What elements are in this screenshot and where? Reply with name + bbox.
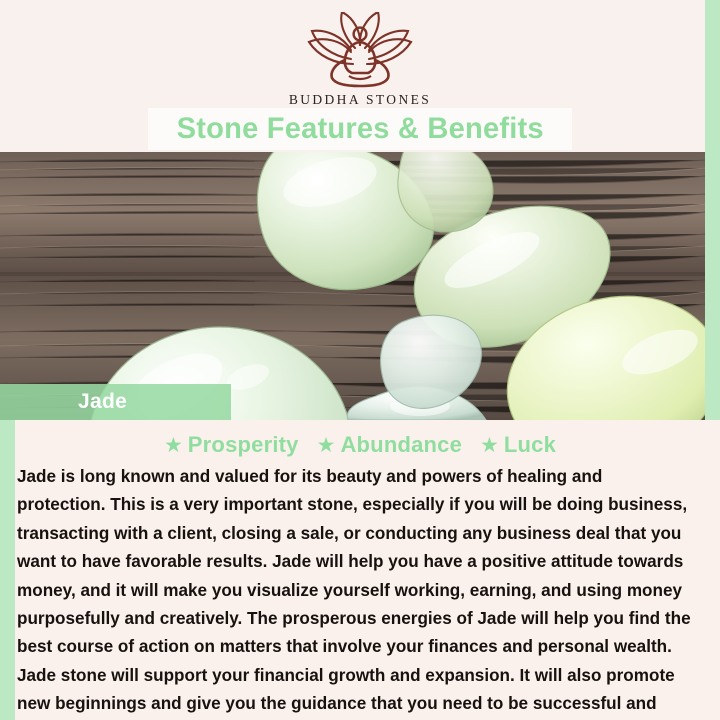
benefit-label: Luck	[504, 432, 556, 458]
benefit-item-luck: ★ Luck	[480, 432, 556, 458]
infographic-page: BUDDHA STONES Stone Features & Benefits	[0, 0, 720, 720]
star-icon: ★	[164, 435, 183, 456]
benefit-label: Abundance	[340, 432, 462, 458]
green-accent-strip-left	[0, 420, 15, 698]
benefit-label: Prosperity	[188, 432, 299, 458]
stone-description: Jade is long known and valued for its be…	[17, 462, 693, 720]
star-icon: ★	[317, 435, 336, 456]
benefit-item-prosperity: ★ Prosperity	[164, 432, 299, 458]
brand-logo: BUDDHA STONES	[0, 12, 720, 108]
benefits-row: ★ Prosperity ★ Abundance ★ Luck	[15, 430, 705, 460]
page-title: Stone Features & Benefits	[176, 112, 543, 146]
brand-name: BUDDHA STONES	[289, 92, 431, 108]
star-icon: ★	[480, 435, 499, 456]
benefit-item-abundance: ★ Abundance	[317, 432, 462, 458]
stone-photo	[0, 152, 705, 420]
title-banner: Stone Features & Benefits	[148, 108, 572, 150]
stone-name-label: Jade	[78, 390, 127, 414]
lotus-meditation-icon	[285, 12, 435, 90]
stone-name-band: Jade	[0, 384, 231, 420]
green-accent-strip-right	[705, 152, 720, 420]
